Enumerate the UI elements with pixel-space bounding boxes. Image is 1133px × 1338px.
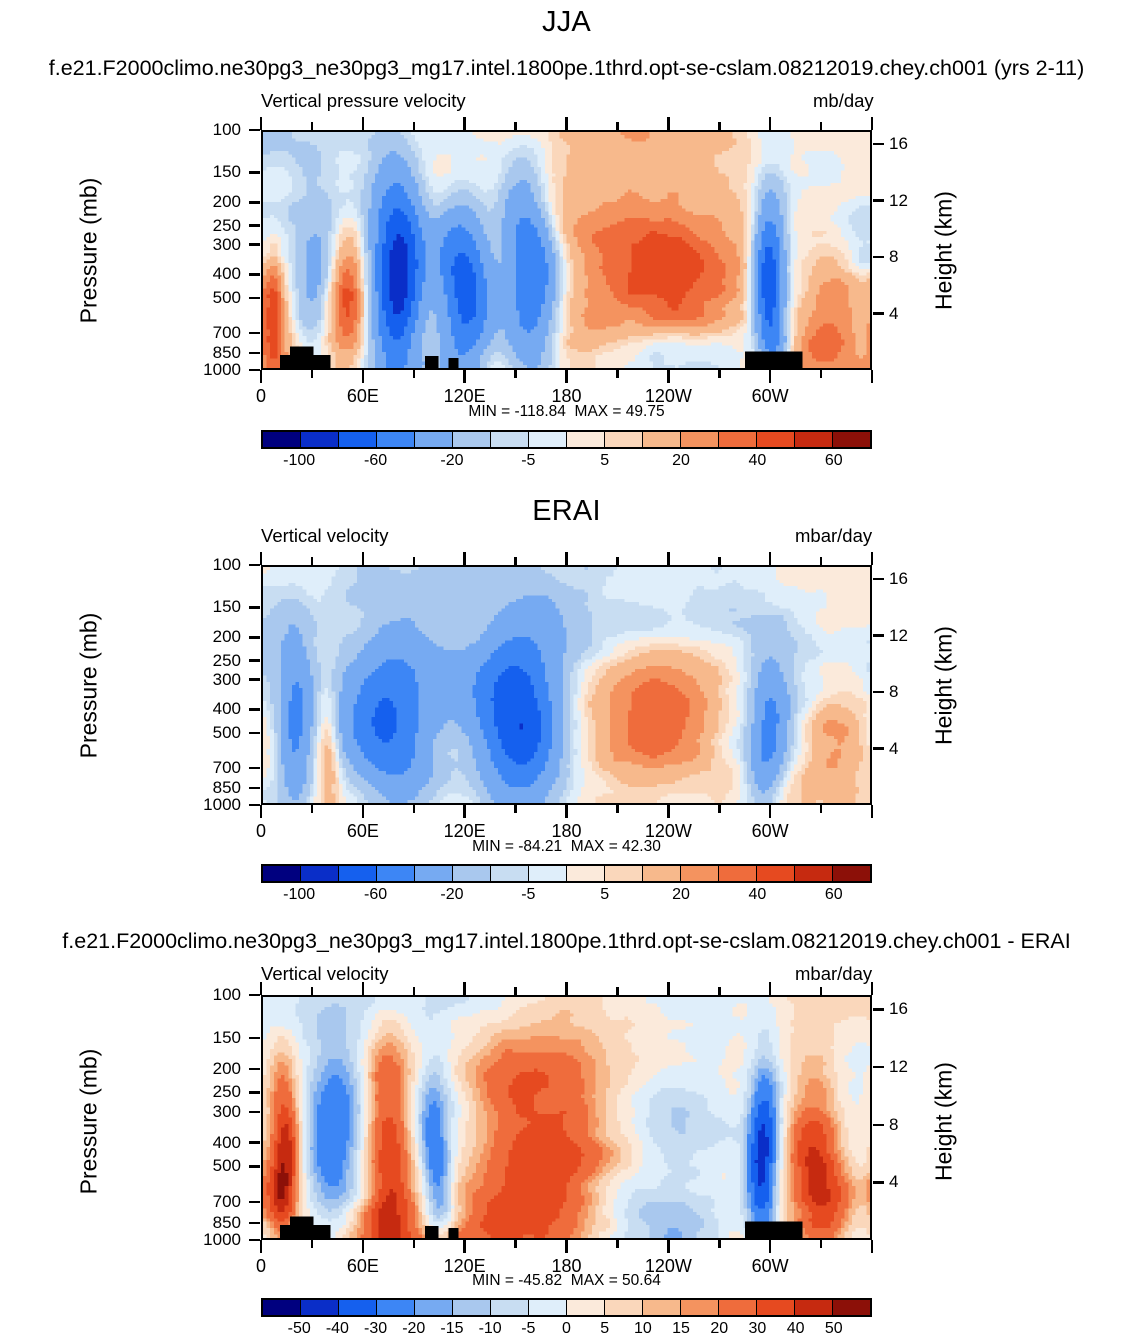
colorbar-cell bbox=[719, 1300, 757, 1315]
pressure-tick bbox=[249, 369, 260, 372]
lon-tick-minor bbox=[718, 1240, 721, 1248]
colorbar-cell bbox=[491, 432, 529, 447]
pressure-tick bbox=[249, 787, 260, 790]
colorbar-cell bbox=[795, 1300, 833, 1315]
lon-tick-major bbox=[769, 805, 772, 818]
colorbar-cell bbox=[757, 432, 795, 447]
colorbar-tick-label: -60 bbox=[346, 886, 406, 904]
pressure-tick bbox=[249, 1222, 260, 1225]
lon-tick-minor bbox=[718, 122, 721, 130]
lon-tick-major bbox=[463, 117, 466, 130]
lon-tick-minor bbox=[820, 122, 823, 130]
height-tick-label: 12 bbox=[889, 191, 929, 211]
colorbar-cell bbox=[833, 866, 870, 881]
pressure-tick bbox=[249, 994, 260, 997]
pressure-tick-label: 150 bbox=[181, 1028, 241, 1048]
height-tick bbox=[873, 256, 884, 259]
pressure-tick-label: 1000 bbox=[181, 795, 241, 815]
colorbar-cell bbox=[681, 866, 719, 881]
panel-2-height-axis-label: Height (km) bbox=[931, 596, 958, 776]
colorbar-tick-label: 60 bbox=[804, 886, 864, 904]
lon-tick-major bbox=[463, 805, 466, 818]
panel-3-height-axis-label: Height (km) bbox=[931, 1032, 958, 1212]
lon-tick-major bbox=[769, 552, 772, 565]
pressure-tick bbox=[249, 332, 260, 335]
lon-tick-major bbox=[769, 117, 772, 130]
pressure-tick-label: 200 bbox=[181, 627, 241, 647]
lon-tick-major bbox=[362, 1240, 365, 1253]
lon-tick-minor bbox=[820, 557, 823, 565]
lon-tick-minor bbox=[311, 987, 314, 995]
colorbar-cell bbox=[491, 866, 529, 881]
lon-tick-minor bbox=[718, 987, 721, 995]
lon-tick-major bbox=[260, 117, 263, 130]
lon-tick-major bbox=[565, 982, 568, 995]
pressure-tick bbox=[249, 606, 260, 609]
run-title: f.e21.F2000climo.ne30pg3_ne30pg3_mg17.in… bbox=[0, 56, 1133, 81]
colorbar-cell bbox=[605, 432, 643, 447]
lon-tick-major bbox=[565, 370, 568, 383]
panel-1-units-label: mb/day bbox=[813, 90, 874, 112]
lon-tick-major bbox=[260, 1240, 263, 1253]
lon-tick-major bbox=[362, 117, 365, 130]
lon-tick-major bbox=[871, 370, 874, 383]
colorbar-cell bbox=[263, 866, 301, 881]
colorbar-cell bbox=[795, 432, 833, 447]
colorbar-tick-label: -5 bbox=[498, 886, 558, 904]
pressure-tick-label: 100 bbox=[181, 985, 241, 1005]
lon-tick-major bbox=[362, 982, 365, 995]
pressure-tick-label: 1000 bbox=[181, 1230, 241, 1250]
pressure-tick-label: 200 bbox=[181, 1059, 241, 1079]
lon-tick-minor bbox=[616, 370, 619, 378]
lon-tick-minor bbox=[514, 1240, 517, 1248]
lon-tick-minor bbox=[413, 987, 416, 995]
colorbar-cell bbox=[301, 1300, 339, 1315]
colorbar-cell bbox=[453, 432, 491, 447]
lon-tick-minor bbox=[616, 805, 619, 813]
pressure-tick bbox=[249, 804, 260, 807]
lon-tick-minor bbox=[514, 987, 517, 995]
height-tick bbox=[873, 1066, 884, 1069]
panel-1-plot bbox=[261, 130, 872, 370]
pressure-tick bbox=[249, 1068, 260, 1071]
colorbar-cell bbox=[605, 866, 643, 881]
colorbar-cell bbox=[719, 432, 757, 447]
lon-tick-major bbox=[667, 370, 670, 383]
colorbar-tick-label: -20 bbox=[422, 886, 482, 904]
panel-2-units-label: mbar/day bbox=[795, 525, 872, 547]
panel-2-variable-label: Vertical velocity bbox=[261, 525, 389, 547]
height-tick bbox=[873, 634, 884, 637]
pressure-tick bbox=[249, 352, 260, 355]
colorbar-cell bbox=[719, 866, 757, 881]
lon-tick-major bbox=[362, 370, 365, 383]
lon-tick-major bbox=[260, 370, 263, 383]
pressure-tick bbox=[249, 243, 260, 246]
colorbar-cell bbox=[529, 1300, 567, 1315]
lon-tick-minor bbox=[820, 370, 823, 378]
pressure-tick bbox=[249, 1165, 260, 1168]
colorbar-tick-label: 40 bbox=[727, 452, 787, 470]
pressure-tick bbox=[249, 201, 260, 204]
pressure-tick-label: 500 bbox=[181, 1156, 241, 1176]
colorbar-cell bbox=[453, 1300, 491, 1315]
colorbar-cell bbox=[681, 1300, 719, 1315]
height-tick bbox=[873, 691, 884, 694]
colorbar-cell bbox=[339, 1300, 377, 1315]
colorbar-cell bbox=[529, 432, 567, 447]
pressure-tick-label: 400 bbox=[181, 1133, 241, 1153]
height-tick-label: 16 bbox=[889, 134, 929, 154]
lon-tick-major bbox=[667, 552, 670, 565]
panel-1-contour-field bbox=[263, 132, 870, 368]
pressure-tick-label: 250 bbox=[181, 651, 241, 671]
height-tick-label: 16 bbox=[889, 999, 929, 1019]
panel-3-pressure-axis-label: Pressure (mb) bbox=[76, 1032, 103, 1212]
colorbar-tick-label: -5 bbox=[498, 452, 558, 470]
lon-tick-major bbox=[667, 982, 670, 995]
pressure-tick-label: 250 bbox=[181, 1082, 241, 1102]
lon-tick-major bbox=[871, 117, 874, 130]
colorbar-cell bbox=[833, 1300, 870, 1315]
pressure-tick bbox=[249, 171, 260, 174]
pressure-tick-label: 100 bbox=[181, 120, 241, 140]
lon-tick-major bbox=[769, 982, 772, 995]
height-tick bbox=[873, 747, 884, 750]
colorbar-cell bbox=[795, 866, 833, 881]
lon-tick-minor bbox=[413, 122, 416, 130]
lon-tick-minor bbox=[311, 805, 314, 813]
pressure-tick bbox=[249, 1111, 260, 1114]
pressure-tick-label: 300 bbox=[181, 235, 241, 255]
lon-tick-major bbox=[565, 117, 568, 130]
pressure-tick-label: 400 bbox=[181, 264, 241, 284]
lon-tick-major bbox=[260, 552, 263, 565]
lon-tick-minor bbox=[311, 557, 314, 565]
panel-2-minmax: MIN = -84.21 MAX = 42.30 bbox=[0, 838, 1133, 856]
panel-3-contour-field bbox=[263, 997, 870, 1238]
pressure-tick bbox=[249, 767, 260, 770]
colorbar-cell bbox=[681, 432, 719, 447]
colorbar-tick-label: -100 bbox=[269, 886, 329, 904]
pressure-tick-label: 300 bbox=[181, 670, 241, 690]
pressure-tick bbox=[249, 1239, 260, 1242]
colorbar-cell bbox=[833, 432, 870, 447]
lon-tick-minor bbox=[616, 987, 619, 995]
colorbar-cell bbox=[301, 432, 339, 447]
colorbar-tick-label: 5 bbox=[575, 886, 635, 904]
pressure-tick-label: 700 bbox=[181, 1192, 241, 1212]
pressure-tick-label: 400 bbox=[181, 699, 241, 719]
colorbar-tick-label: -20 bbox=[422, 452, 482, 470]
pressure-tick-label: 500 bbox=[181, 723, 241, 743]
lon-tick-major bbox=[463, 370, 466, 383]
height-tick bbox=[873, 1181, 884, 1184]
colorbar-cell bbox=[643, 1300, 681, 1315]
colorbar-cell bbox=[415, 866, 453, 881]
pressure-tick bbox=[249, 1091, 260, 1094]
lon-tick-minor bbox=[413, 557, 416, 565]
pressure-tick bbox=[249, 636, 260, 639]
lon-tick-minor bbox=[311, 122, 314, 130]
lon-tick-minor bbox=[718, 805, 721, 813]
pressure-tick-label: 700 bbox=[181, 758, 241, 778]
panel-2-pressure-axis-label: Pressure (mb) bbox=[76, 596, 103, 776]
colorbar-tick-label: 20 bbox=[651, 886, 711, 904]
panel-2-plot bbox=[261, 565, 872, 805]
panel-3-colorbar bbox=[261, 1298, 872, 1317]
colorbar-cell bbox=[263, 1300, 301, 1315]
lon-tick-minor bbox=[413, 370, 416, 378]
lon-tick-minor bbox=[616, 1240, 619, 1248]
pressure-tick-label: 700 bbox=[181, 323, 241, 343]
lon-tick-major bbox=[463, 552, 466, 565]
height-tick bbox=[873, 578, 884, 581]
colorbar-cell bbox=[491, 1300, 529, 1315]
colorbar-cell bbox=[301, 866, 339, 881]
pressure-tick bbox=[249, 129, 260, 132]
lon-tick-major bbox=[565, 805, 568, 818]
lon-tick-major bbox=[260, 805, 263, 818]
colorbar-tick-label: 20 bbox=[651, 452, 711, 470]
panel-3-plot bbox=[261, 995, 872, 1240]
colorbar-tick-label: 50 bbox=[804, 1320, 864, 1338]
colorbar-cell bbox=[567, 866, 605, 881]
pressure-tick bbox=[249, 273, 260, 276]
lon-tick-major bbox=[667, 805, 670, 818]
panel-2-contour-field bbox=[263, 567, 870, 803]
panel-1-pressure-axis-label: Pressure (mb) bbox=[76, 161, 103, 341]
colorbar-tick-label: 60 bbox=[804, 452, 864, 470]
height-tick-label: 4 bbox=[889, 739, 929, 759]
lon-tick-major bbox=[463, 1240, 466, 1253]
height-tick bbox=[873, 1008, 884, 1011]
pressure-tick bbox=[249, 1037, 260, 1040]
pressure-tick-label: 250 bbox=[181, 216, 241, 236]
panel-3-units-label: mbar/day bbox=[795, 963, 872, 985]
panel-3-title: f.e21.F2000climo.ne30pg3_ne30pg3_mg17.in… bbox=[0, 929, 1133, 954]
pressure-tick bbox=[249, 659, 260, 662]
lon-tick-minor bbox=[616, 122, 619, 130]
lon-tick-minor bbox=[514, 370, 517, 378]
panel-1-variable-label: Vertical pressure velocity bbox=[261, 90, 466, 112]
height-tick-label: 8 bbox=[889, 1115, 929, 1135]
pressure-tick-label: 300 bbox=[181, 1102, 241, 1122]
height-tick-label: 16 bbox=[889, 569, 929, 589]
panel-1-colorbar bbox=[261, 430, 872, 449]
lon-tick-major bbox=[463, 982, 466, 995]
lon-tick-minor bbox=[718, 370, 721, 378]
pressure-tick bbox=[249, 1141, 260, 1144]
lon-tick-minor bbox=[718, 557, 721, 565]
pressure-tick-label: 150 bbox=[181, 597, 241, 617]
panel-2-title: ERAI bbox=[0, 495, 1133, 528]
lon-tick-minor bbox=[514, 122, 517, 130]
height-tick-label: 8 bbox=[889, 247, 929, 267]
figure-page: JJA f.e21.F2000climo.ne30pg3_ne30pg3_mg1… bbox=[0, 0, 1133, 1333]
lon-tick-minor bbox=[616, 557, 619, 565]
pressure-tick bbox=[249, 678, 260, 681]
lon-tick-minor bbox=[820, 987, 823, 995]
colorbar-cell bbox=[605, 1300, 643, 1315]
colorbar-cell bbox=[529, 866, 567, 881]
lon-tick-major bbox=[667, 117, 670, 130]
colorbar-cell bbox=[643, 866, 681, 881]
lon-tick-major bbox=[667, 1240, 670, 1253]
colorbar-cell bbox=[339, 432, 377, 447]
lon-tick-major bbox=[871, 805, 874, 818]
lon-tick-major bbox=[362, 552, 365, 565]
colorbar-cell bbox=[377, 1300, 415, 1315]
panel-1-minmax: MIN = -118.84 MAX = 49.75 bbox=[0, 403, 1133, 421]
lon-tick-major bbox=[871, 552, 874, 565]
colorbar-cell bbox=[757, 1300, 795, 1315]
height-tick-label: 12 bbox=[889, 1057, 929, 1077]
season-title: JJA bbox=[0, 6, 1133, 39]
colorbar-tick-label: 5 bbox=[575, 452, 635, 470]
pressure-tick-label: 200 bbox=[181, 192, 241, 212]
lon-tick-minor bbox=[311, 370, 314, 378]
pressure-tick bbox=[249, 708, 260, 711]
lon-tick-minor bbox=[413, 1240, 416, 1248]
colorbar-cell bbox=[567, 432, 605, 447]
height-tick-label: 4 bbox=[889, 304, 929, 324]
colorbar-cell bbox=[415, 432, 453, 447]
colorbar-tick-label: -100 bbox=[269, 452, 329, 470]
colorbar-cell bbox=[339, 866, 377, 881]
lon-tick-major bbox=[565, 552, 568, 565]
lon-tick-minor bbox=[311, 1240, 314, 1248]
pressure-tick bbox=[249, 224, 260, 227]
panel-3-minmax: MIN = -45.82 MAX = 50.64 bbox=[0, 1272, 1133, 1290]
pressure-tick bbox=[249, 732, 260, 735]
lon-tick-major bbox=[260, 982, 263, 995]
lon-tick-minor bbox=[820, 1240, 823, 1248]
panel-3-variable-label: Vertical velocity bbox=[261, 963, 389, 985]
colorbar-cell bbox=[643, 432, 681, 447]
colorbar-tick-label: 40 bbox=[727, 886, 787, 904]
lon-tick-major bbox=[871, 982, 874, 995]
colorbar-cell bbox=[757, 866, 795, 881]
lon-tick-major bbox=[769, 370, 772, 383]
height-tick bbox=[873, 143, 884, 146]
pressure-tick bbox=[249, 564, 260, 567]
colorbar-cell bbox=[377, 866, 415, 881]
lon-tick-major bbox=[769, 1240, 772, 1253]
height-tick-label: 8 bbox=[889, 682, 929, 702]
colorbar-cell bbox=[453, 866, 491, 881]
colorbar-cell bbox=[567, 1300, 605, 1315]
height-tick bbox=[873, 1124, 884, 1127]
colorbar-cell bbox=[415, 1300, 453, 1315]
colorbar-cell bbox=[377, 432, 415, 447]
height-tick bbox=[873, 199, 884, 202]
lon-tick-minor bbox=[514, 805, 517, 813]
lon-tick-minor bbox=[514, 557, 517, 565]
height-tick bbox=[873, 312, 884, 315]
pressure-tick-label: 500 bbox=[181, 288, 241, 308]
pressure-tick-label: 150 bbox=[181, 162, 241, 182]
pressure-tick bbox=[249, 297, 260, 300]
colorbar-tick-label: -60 bbox=[346, 452, 406, 470]
panel-2-colorbar bbox=[261, 864, 872, 883]
lon-tick-major bbox=[362, 805, 365, 818]
lon-tick-minor bbox=[413, 805, 416, 813]
lon-tick-minor bbox=[820, 805, 823, 813]
height-tick-label: 4 bbox=[889, 1172, 929, 1192]
height-tick-label: 12 bbox=[889, 626, 929, 646]
lon-tick-major bbox=[871, 1240, 874, 1253]
colorbar-cell bbox=[263, 432, 301, 447]
panel-1-height-axis-label: Height (km) bbox=[931, 161, 958, 341]
pressure-tick bbox=[249, 1201, 260, 1204]
pressure-tick-label: 1000 bbox=[181, 360, 241, 380]
lon-tick-major bbox=[565, 1240, 568, 1253]
pressure-tick-label: 100 bbox=[181, 555, 241, 575]
